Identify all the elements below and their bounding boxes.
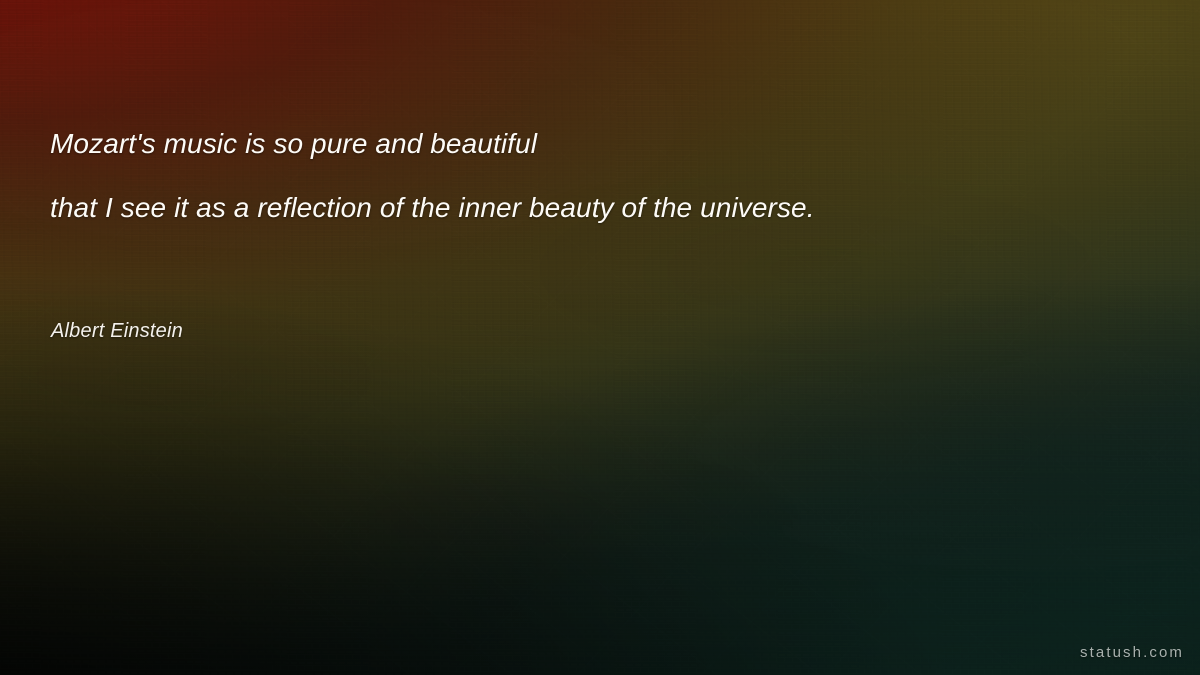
quote-author: Albert Einstein: [51, 320, 183, 343]
quote-line-1: Mozart's music is so pure and beautiful: [50, 112, 1140, 176]
card-content: Mozart's music is so pure and beautiful …: [0, 0, 1200, 675]
quote-card: Mozart's music is so pure and beautiful …: [0, 0, 1200, 675]
quote-text: Mozart's music is so pure and beautiful …: [50, 112, 1140, 240]
quote-line-2: that I see it as a reflection of the inn…: [50, 176, 1140, 240]
site-watermark: statush.com: [1080, 644, 1184, 661]
